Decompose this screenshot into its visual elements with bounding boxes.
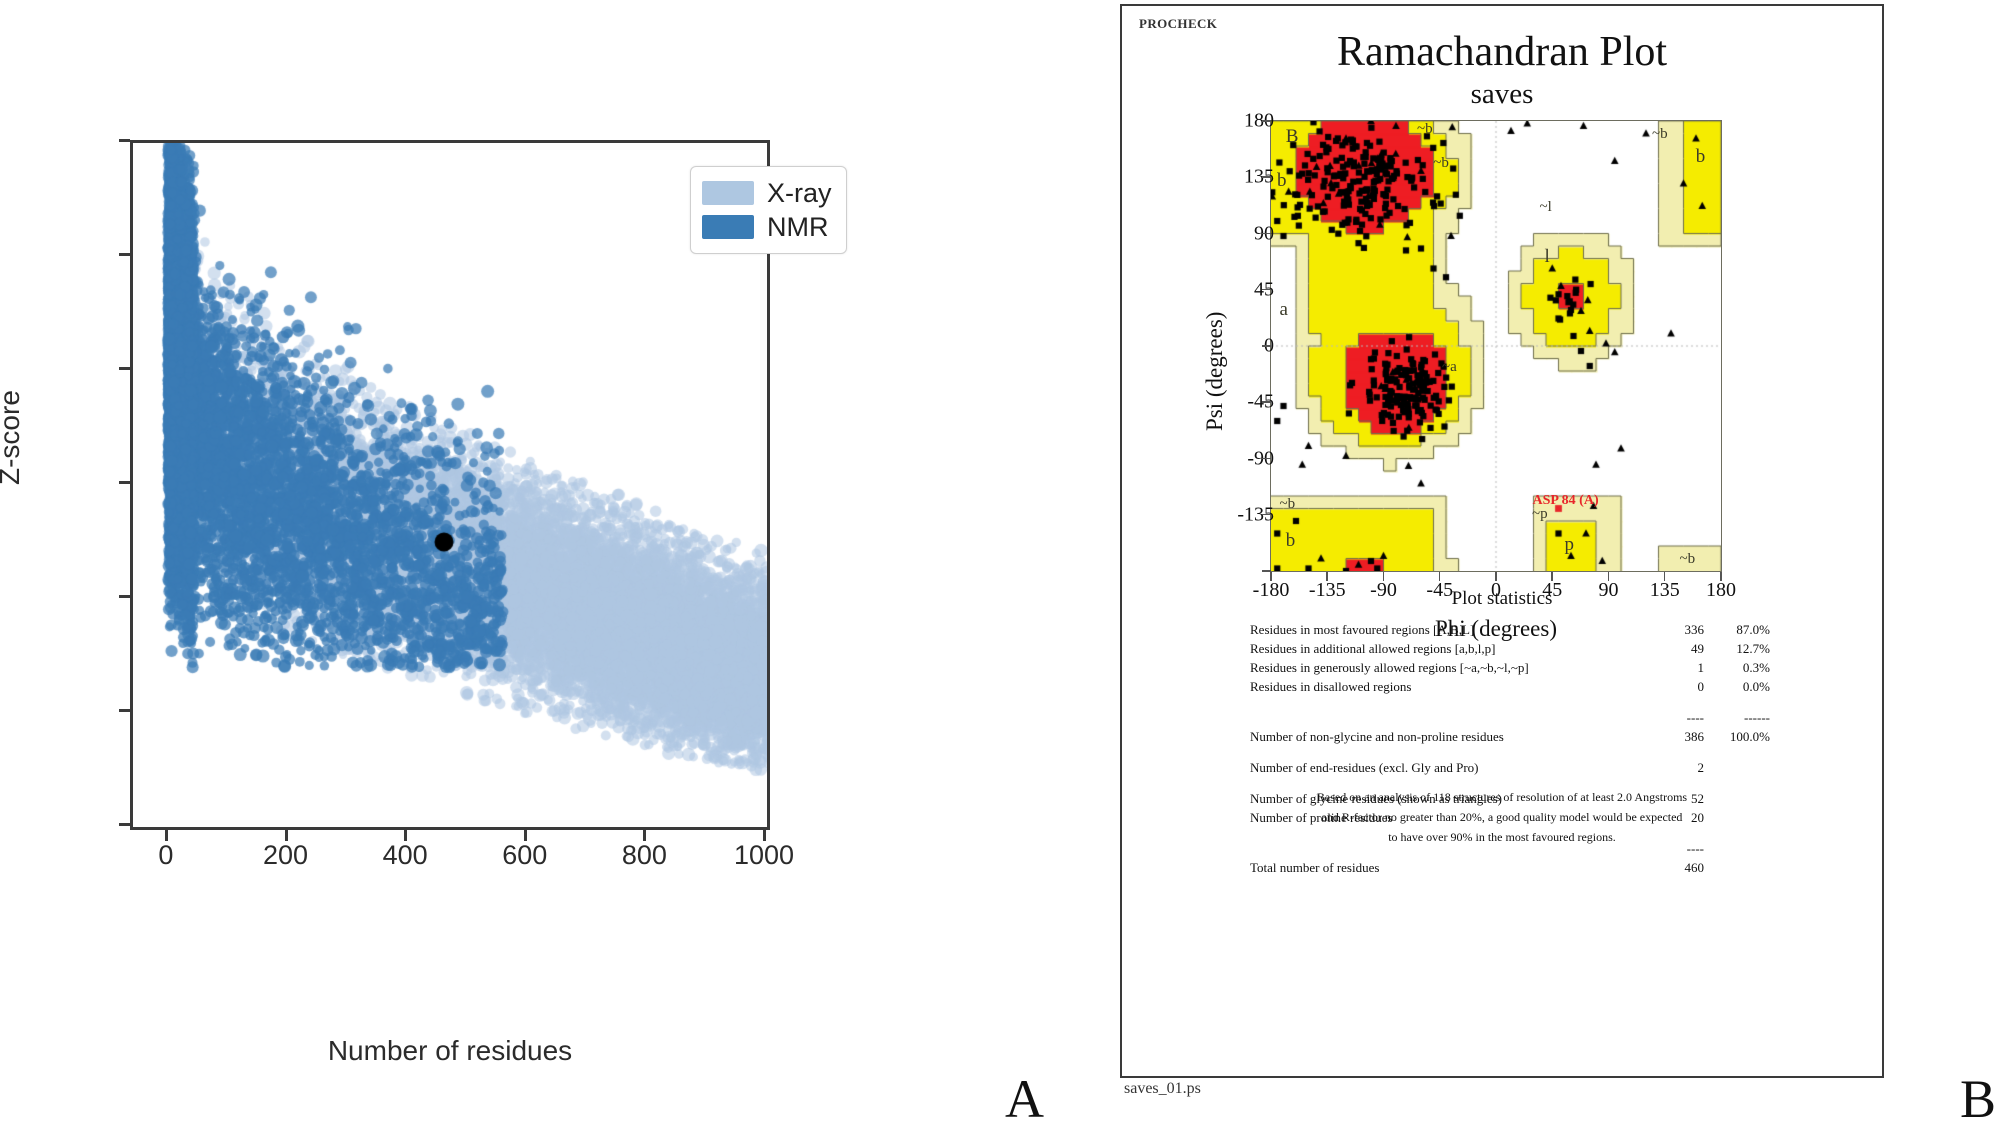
rama-y-tick-mark [1262, 289, 1271, 291]
stats-row-count: ---- [1652, 708, 1708, 727]
stats-row-label: Total number of residues [1250, 858, 1652, 877]
rama-y-tick-mark [1262, 233, 1271, 235]
scatter-x-tick-mark [524, 830, 527, 841]
scatter-x-tick-label: 800 [622, 840, 667, 871]
stats-row-label: Residues in disallowed regions [1250, 677, 1652, 696]
stats-row: Residues in generously allowed regions [… [1250, 658, 1770, 677]
scatter-x-tick-label: 600 [502, 840, 547, 871]
stats-row: Number of non-glycine and non-proline re… [1250, 727, 1770, 746]
scatter-x-tick-mark [763, 830, 766, 841]
scatter-y-tick-mark [119, 367, 130, 370]
scatter-x-tick-mark [285, 830, 288, 841]
stats-row-label: Number of end-residues (excl. Gly and Pr… [1250, 758, 1652, 777]
legend-swatch-x-ray [702, 181, 754, 205]
stats-row-count: 0 [1652, 677, 1708, 696]
scatter-x-tick-label: 400 [383, 840, 428, 871]
scatter-x-tick-label: 1000 [734, 840, 794, 871]
ramachandran-title: Ramachandran Plot [1122, 28, 1882, 76]
stats-row-count: 386 [1652, 727, 1708, 746]
stats-row-label: Number of non-glycine and non-proline re… [1250, 727, 1652, 746]
footnote-line: and R-factor no greater than 20%, a good… [1122, 808, 1882, 828]
legend-label: NMR [767, 212, 829, 243]
stats-row-count: 336 [1652, 620, 1708, 639]
stats-row-percent [1708, 758, 1770, 777]
scatter-chart: 1050−5−10−15−20 02004006008001000 Z-scor… [0, 0, 1000, 1090]
stats-row-percent: ------ [1708, 708, 1770, 727]
rama-y-tick-mark [1262, 458, 1271, 460]
rama-x-tick-mark [1608, 572, 1610, 581]
rama-x-tick-mark [1664, 572, 1666, 581]
scatter-y-tick-mark [119, 481, 130, 484]
panel-a-zscore-scatter: 1050−5−10−15−20 02004006008001000 Z-scor… [0, 0, 1000, 1148]
stats-row-percent: 0.3% [1708, 658, 1770, 677]
rama-x-tick-mark [1383, 572, 1385, 581]
scatter-y-axis-label: Z-score [0, 390, 26, 485]
stats-spacer [1250, 696, 1770, 708]
ramachandran-canvas [1271, 121, 1721, 571]
rama-y-tick-mark [1262, 401, 1271, 403]
rama-x-tick-mark [1270, 572, 1272, 581]
rama-outlier-label: ASP 84 (A) [1533, 493, 1599, 509]
panel-b-label: B [1960, 1068, 1996, 1130]
scatter-y-tick-mark [119, 595, 130, 598]
legend-swatch-nmr [702, 215, 754, 239]
panel-a-label: A [1005, 1068, 1044, 1130]
rama-y-tick-mark [1262, 345, 1271, 347]
scatter-x-tick-mark [165, 830, 168, 841]
stats-row: Residues in most favoured regions [A,B,L… [1250, 620, 1770, 639]
rama-x-tick-mark [1439, 572, 1441, 581]
stats-row: Total number of residues460 [1250, 858, 1770, 877]
stats-row: ---------- [1250, 708, 1770, 727]
scatter-x-tick-label: 200 [263, 840, 308, 871]
rama-x-tick-mark [1551, 572, 1553, 581]
stats-row: Residues in disallowed regions00.0% [1250, 677, 1770, 696]
stats-row: Number of end-residues (excl. Gly and Pr… [1250, 758, 1770, 777]
scatter-plot-area [130, 140, 770, 830]
rama-y-tick-mark [1262, 120, 1271, 122]
postscript-filename: saves_01.ps [1124, 1080, 1201, 1098]
scatter-y-tick-mark [119, 139, 130, 142]
stats-row-percent: 87.0% [1708, 620, 1770, 639]
stats-row-count: 460 [1652, 858, 1708, 877]
stats-row-count: 1 [1652, 658, 1708, 677]
scatter-x-axis-label: Number of residues [328, 1035, 572, 1067]
ramachandran-subtitle: saves [1122, 78, 1882, 111]
rama-x-tick-mark [1495, 572, 1497, 581]
ramachandran-y-axis-label: Psi (degrees) [1202, 312, 1228, 431]
stats-row-percent: 100.0% [1708, 727, 1770, 746]
legend-item[interactable]: NMR [702, 210, 832, 244]
stats-row-label: Residues in most favoured regions [A,B,L… [1250, 620, 1652, 639]
stats-row-label [1250, 708, 1652, 727]
scatter-x-tick-mark [404, 830, 407, 841]
scatter-x-tick-label: 0 [158, 840, 173, 871]
stats-row-label: Residues in generously allowed regions [… [1250, 658, 1652, 677]
scatter-legend: X-rayNMR [690, 166, 847, 254]
stats-row: Residues in additional allowed regions [… [1250, 639, 1770, 658]
plot-statistics-title: Plot statistics [1122, 588, 1882, 610]
rama-x-tick-mark [1720, 572, 1722, 581]
ramachandran-plot-area: Bba~b~a~b~bb~ll~bb~pp~bASP 84 (A) [1270, 120, 1722, 572]
footnote-line: to have over 90% in the most favoured re… [1122, 828, 1882, 848]
rama-y-tick-mark [1262, 514, 1271, 516]
footnote-line: Based on an analysis of 118 structures o… [1122, 788, 1882, 808]
stats-spacer [1250, 746, 1770, 758]
legend-label: X-ray [767, 178, 832, 209]
stats-row-count: 49 [1652, 639, 1708, 658]
scatter-y-tick-mark [119, 823, 130, 826]
stats-row-percent [1708, 858, 1770, 877]
scatter-x-tick-mark [643, 830, 646, 841]
stats-row-label: Residues in additional allowed regions [… [1250, 639, 1652, 658]
scatter-y-tick-mark [119, 709, 130, 712]
legend-item[interactable]: X-ray [702, 176, 832, 210]
panel-b-ramachandran: PROCHECK Ramachandran Plot saves Bba~b~a… [1120, 4, 1884, 1078]
stats-row-count: 2 [1652, 758, 1708, 777]
scatter-y-tick-mark [119, 253, 130, 256]
rama-y-tick-mark [1262, 176, 1271, 178]
scatter-points-canvas [133, 143, 767, 827]
rama-x-tick-mark [1326, 572, 1328, 581]
stats-row-percent: 12.7% [1708, 639, 1770, 658]
stats-row-percent: 0.0% [1708, 677, 1770, 696]
ramachandran-footnote: Based on an analysis of 118 structures o… [1122, 788, 1882, 847]
